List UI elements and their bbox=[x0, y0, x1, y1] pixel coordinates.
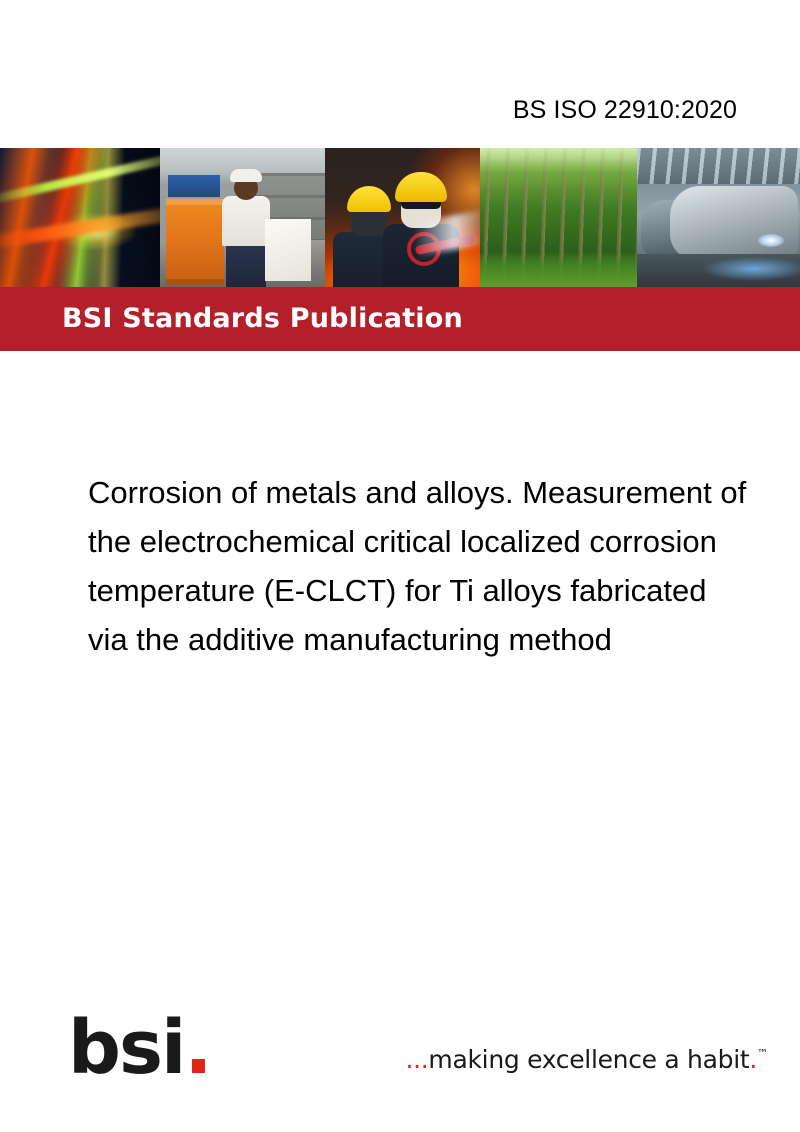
forest-canopy-light bbox=[480, 148, 637, 190]
title-line-4: via the additive manufacturing method bbox=[88, 615, 800, 664]
worker-cap bbox=[230, 169, 262, 182]
assembly-line-floor bbox=[637, 254, 800, 287]
cover-page: BS ISO 22910:2020 bbox=[0, 0, 800, 1132]
title-line-2: the electrochemical critical localized c… bbox=[88, 517, 800, 566]
photo-panel-warehouse-worker bbox=[160, 148, 325, 287]
publisher-banner: BSI Standards Publication bbox=[0, 287, 800, 351]
firefighter-front-helmet bbox=[395, 172, 447, 202]
blue-crate bbox=[168, 175, 220, 197]
tagline-text: making excellence a habit bbox=[428, 1045, 749, 1074]
bsi-logo-wordmark: bsi bbox=[68, 1005, 184, 1091]
photo-panel-forest bbox=[480, 148, 637, 287]
photo-panel-firefighters bbox=[325, 148, 480, 287]
car-headlight bbox=[758, 234, 784, 247]
publisher-banner-label: BSI Standards Publication bbox=[62, 304, 463, 334]
tagline-leading-ellipsis: ... bbox=[405, 1045, 428, 1074]
bsi-logo: bsi. bbox=[68, 1011, 211, 1085]
trademark-symbol: ™ bbox=[757, 1047, 768, 1060]
photo-panel-car-assembly-line bbox=[637, 148, 800, 287]
firefighter-rear-helmet bbox=[347, 186, 391, 212]
car-windshield bbox=[684, 192, 780, 218]
orange-crate bbox=[166, 199, 224, 285]
page-title: Corrosion of metals and alloys. Measurem… bbox=[88, 468, 800, 664]
bsi-tagline: ...making excellence a habit.™ bbox=[405, 1040, 768, 1074]
standard-number: BS ISO 22910:2020 bbox=[0, 95, 737, 125]
factory-ceiling-lights bbox=[637, 148, 800, 184]
tagline-red-period: . bbox=[749, 1045, 757, 1074]
worker-legs bbox=[226, 244, 266, 287]
photo-panel-night-traffic-light-trails bbox=[0, 148, 160, 287]
title-line-1: Corrosion of metals and alloys. Measurem… bbox=[88, 468, 800, 517]
cover-photo-strip bbox=[0, 148, 800, 287]
title-line-3: temperature (E-CLCT) for Ti alloys fabri… bbox=[88, 566, 800, 615]
white-box bbox=[265, 219, 311, 281]
forest-undergrowth bbox=[480, 251, 637, 287]
worker-torso bbox=[222, 196, 270, 246]
bsi-logo-red-dot: . bbox=[184, 1005, 210, 1091]
